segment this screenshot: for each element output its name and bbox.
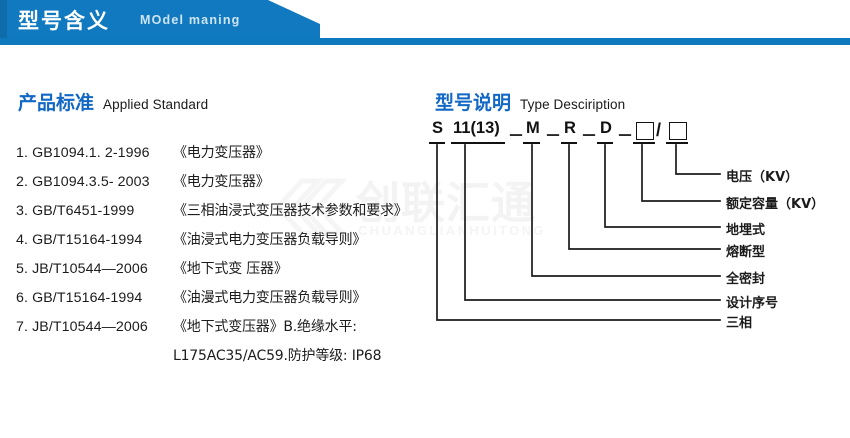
model-code-diagram: S 11(13) － M － R － D － / [420,118,850,368]
standard-code: 7. JB/T10544—2006 [16,319,173,335]
section-title-en-type: Type Desciription [520,97,625,112]
standard-name: 《油浸式电力变压器负载导则》 [173,229,366,249]
list-item: 1. GB1094.1. 2-1996 《电力变压器》 [16,142,426,171]
section-heading-standard: 产品标准Applied Standard [18,88,208,115]
callout-label-design-no: 设计序号 [726,292,778,311]
leader-fuse [569,145,720,249]
list-item: 7. JB/T10544—2006 《地下式变压器》B.绝缘水平: [16,316,426,345]
standard-name: 《三相油浸式变压器技术参数和要求》 [173,200,408,220]
standard-name: 《油漫式电力变压器负载导则》 [173,287,366,307]
standard-name: L175AC35/AC59.防护等级: IP68 [173,345,381,365]
leader-buried [605,145,720,227]
section-title-cn-type: 型号说明 [435,92,511,114]
callout-label-sealed: 全密封 [726,268,765,287]
callout-label-voltage: 电压（KV） [726,166,798,185]
section-title-cn-standard: 产品标准 [18,92,94,114]
page-header-banner: 型号含义 MOdel maning [0,0,850,48]
callout-label-three-phase: 三相 [726,312,752,331]
banner-title-en: MOdel maning [140,13,241,27]
list-item: 2. GB1094.3.5- 2003 《电力变压器》 [16,171,426,200]
standards-list: 1. GB1094.1. 2-1996 《电力变压器》 2. GB1094.3.… [16,142,426,374]
list-item: 5. JB/T10544—2006 《地下式变 压器》 [16,258,426,287]
standard-name: 《地下式变 压器》 [173,258,288,278]
list-item: 4. GB/T15164-1994 《油浸式电力变压器负载导则》 [16,229,426,258]
standard-code: 1. GB1094.1. 2-1996 [16,145,173,161]
standard-name: 《电力变压器》 [173,142,270,162]
callout-label-fuse: 熔断型 [726,241,765,260]
standard-name: 《电力变压器》 [173,171,270,191]
banner-title-cn: 型号含义 [18,5,110,35]
list-item: 6. GB/T15164-1994 《油漫式电力变压器负载导则》 [16,287,426,316]
callout-label-buried: 地埋式 [726,219,765,238]
standard-code: 2. GB1094.3.5- 2003 [16,174,173,190]
callout-leader-lines [420,118,850,368]
standard-code: 5. JB/T10544—2006 [16,261,173,277]
standard-code: 4. GB/T15164-1994 [16,232,173,248]
standard-name: 《地下式变压器》B.绝缘水平: [173,316,357,336]
section-title-en-standard: Applied Standard [103,97,208,112]
banner-underline-bar [0,38,850,45]
leader-rated-capacity [642,145,720,201]
leader-sealed [532,145,720,276]
leader-three-phase [437,145,720,320]
callout-label-rated-capacity: 额定容量（KV） [726,193,824,212]
section-heading-type: 型号说明Type Desciription [435,88,625,115]
leader-voltage [676,145,720,174]
banner-left-edge [0,0,7,38]
list-item-continuation: L175AC35/AC59.防护等级: IP68 [16,345,426,374]
list-item: 3. GB/T6451-1999 《三相油浸式变压器技术参数和要求》 [16,200,426,229]
standard-code: 6. GB/T15164-1994 [16,290,173,306]
standard-code: 3. GB/T6451-1999 [16,203,173,219]
